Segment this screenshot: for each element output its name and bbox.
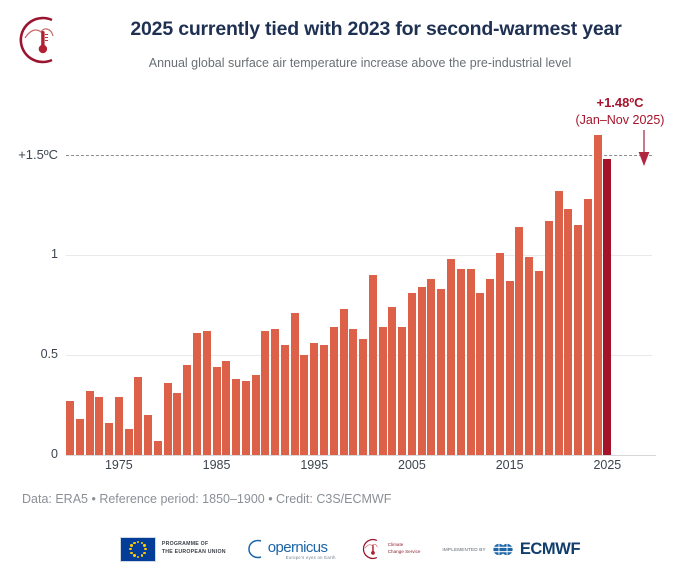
temperature-bar-chart: 00.51+1.5ºC 197519851995200520152025 +1.…	[0, 90, 700, 480]
bar-2017[interactable]	[525, 257, 533, 455]
eu-star-icon	[143, 552, 145, 554]
bar-1990[interactable]	[261, 331, 269, 455]
x-tick-label: 2015	[480, 458, 540, 472]
eu-star-icon	[143, 544, 145, 546]
bar-1975[interactable]	[115, 397, 123, 455]
bar-1992[interactable]	[281, 345, 289, 455]
bar-2000[interactable]	[359, 339, 367, 455]
y-tick-label: 0	[2, 447, 58, 461]
ecmwf-wordmark: ECMWF	[520, 540, 580, 559]
bar-1982[interactable]	[183, 365, 191, 455]
bar-1978[interactable]	[144, 415, 152, 455]
bar-2024[interactable]	[594, 135, 602, 455]
axis-baseline	[66, 455, 656, 456]
y-tick-label: +1.5ºC	[2, 147, 58, 162]
footer-logos: PROGRAMME OF THE EUROPEAN UNION opernicu…	[0, 532, 700, 566]
bar-2009[interactable]	[447, 259, 455, 455]
eu-logo: PROGRAMME OF THE EUROPEAN UNION	[120, 537, 226, 562]
bar-1994[interactable]	[300, 355, 308, 455]
copernicus-logo: opernicus Europe's eyes on Earth	[248, 538, 336, 560]
bar-2018[interactable]	[535, 271, 543, 455]
bar-2020[interactable]	[555, 191, 563, 455]
c3s-logo-text: Climate Change Service	[388, 542, 421, 556]
bar-2008[interactable]	[437, 289, 445, 455]
bar-1972[interactable]	[86, 391, 94, 455]
c3s-thermometer-icon	[358, 537, 382, 561]
bar-1996[interactable]	[320, 345, 328, 455]
bar-1977[interactable]	[134, 377, 142, 455]
y-tick-label: 0.5	[2, 347, 58, 361]
bar-2001[interactable]	[369, 275, 377, 455]
bar-2023[interactable]	[584, 199, 592, 455]
eu-flag-icon	[120, 537, 156, 562]
annotation-2025: +1.48ºC (Jan–Nov 2025)	[555, 94, 685, 128]
bar-1984[interactable]	[203, 331, 211, 455]
bar-2012[interactable]	[476, 293, 484, 455]
eu-star-icon	[137, 556, 139, 558]
bar-2007[interactable]	[427, 279, 435, 455]
bar-1971[interactable]	[76, 419, 84, 455]
bar-2005[interactable]	[408, 293, 416, 455]
eu-logo-line2: THE EUROPEAN UNION	[162, 549, 226, 557]
bar-2004[interactable]	[398, 327, 406, 455]
bar-2015[interactable]	[506, 281, 514, 455]
bar-2013[interactable]	[486, 279, 494, 455]
copernicus-wordmark: opernicus	[268, 539, 336, 556]
eu-star-icon	[141, 554, 143, 556]
eu-star-icon	[130, 552, 132, 554]
page-title: 2025 currently tied with 2023 for second…	[76, 18, 700, 41]
copernicus-c-icon	[248, 538, 262, 560]
c3s-logo: Climate Change Service	[358, 537, 421, 561]
gridline-+1.5ºC	[66, 155, 652, 156]
eu-star-icon	[130, 544, 132, 546]
bar-1976[interactable]	[125, 429, 133, 455]
c3s-thermometer-logo	[8, 12, 64, 68]
copernicus-tagline: Europe's eyes on Earth	[286, 555, 336, 560]
bar-2010[interactable]	[457, 269, 465, 455]
bar-2016[interactable]	[515, 227, 523, 455]
eu-star-icon	[133, 554, 135, 556]
bar-1974[interactable]	[105, 423, 113, 455]
bar-1995[interactable]	[310, 343, 318, 455]
annotation-period: (Jan–Nov 2025)	[555, 112, 685, 129]
ecmwf-logo: IMPLEMENTED BY ECMWF	[442, 540, 580, 559]
y-tick-label: 1	[2, 247, 58, 261]
bar-1986[interactable]	[222, 361, 230, 455]
bar-1989[interactable]	[252, 375, 260, 455]
bar-1993[interactable]	[291, 313, 299, 455]
bar-1970[interactable]	[66, 401, 74, 455]
bar-2003[interactable]	[388, 307, 396, 455]
chart-header: 2025 currently tied with 2023 for second…	[0, 0, 700, 90]
bar-1979[interactable]	[154, 441, 162, 455]
c3s-line1: Climate	[388, 542, 421, 549]
bar-2011[interactable]	[467, 269, 475, 455]
eu-star-icon	[133, 542, 135, 544]
page-subtitle: Annual global surface air temperature in…	[60, 56, 700, 70]
bar-1998[interactable]	[340, 309, 348, 455]
bar-1980[interactable]	[164, 383, 172, 455]
bar-1981[interactable]	[173, 393, 181, 455]
bar-1973[interactable]	[95, 397, 103, 455]
bar-1991[interactable]	[271, 329, 279, 455]
ecmwf-globe-icon	[492, 542, 514, 557]
c3s-line2: Change Service	[388, 549, 421, 556]
bar-2025[interactable]	[603, 159, 611, 455]
x-tick-label: 2005	[382, 458, 442, 472]
annotation-value: +1.48ºC	[555, 94, 685, 112]
bar-2022[interactable]	[574, 225, 582, 455]
bar-1988[interactable]	[242, 381, 250, 455]
annotation-arrow-icon	[637, 130, 651, 168]
bar-2019[interactable]	[545, 221, 553, 455]
eu-star-icon	[137, 541, 139, 543]
bar-1985[interactable]	[213, 367, 221, 455]
source-caption: Data: ERA5 • Reference period: 1850–1900…	[22, 492, 391, 506]
x-tick-label: 1975	[89, 458, 149, 472]
bar-2014[interactable]	[496, 253, 504, 455]
bar-2021[interactable]	[564, 209, 572, 455]
x-tick-label: 2025	[577, 458, 637, 472]
eu-logo-line1: PROGRAMME OF	[162, 541, 226, 549]
bar-1987[interactable]	[232, 379, 240, 455]
eu-star-icon	[144, 548, 146, 550]
eu-logo-text: PROGRAMME OF THE EUROPEAN UNION	[162, 541, 226, 556]
bar-2006[interactable]	[418, 287, 426, 455]
implemented-by-label: IMPLEMENTED BY	[442, 547, 485, 552]
bar-1983[interactable]	[193, 333, 201, 455]
bar-1999[interactable]	[349, 329, 357, 455]
eu-star-icon	[129, 548, 131, 550]
bar-1997[interactable]	[330, 327, 338, 455]
x-tick-label: 1985	[187, 458, 247, 472]
bar-2002[interactable]	[379, 327, 387, 455]
x-tick-label: 1995	[284, 458, 344, 472]
